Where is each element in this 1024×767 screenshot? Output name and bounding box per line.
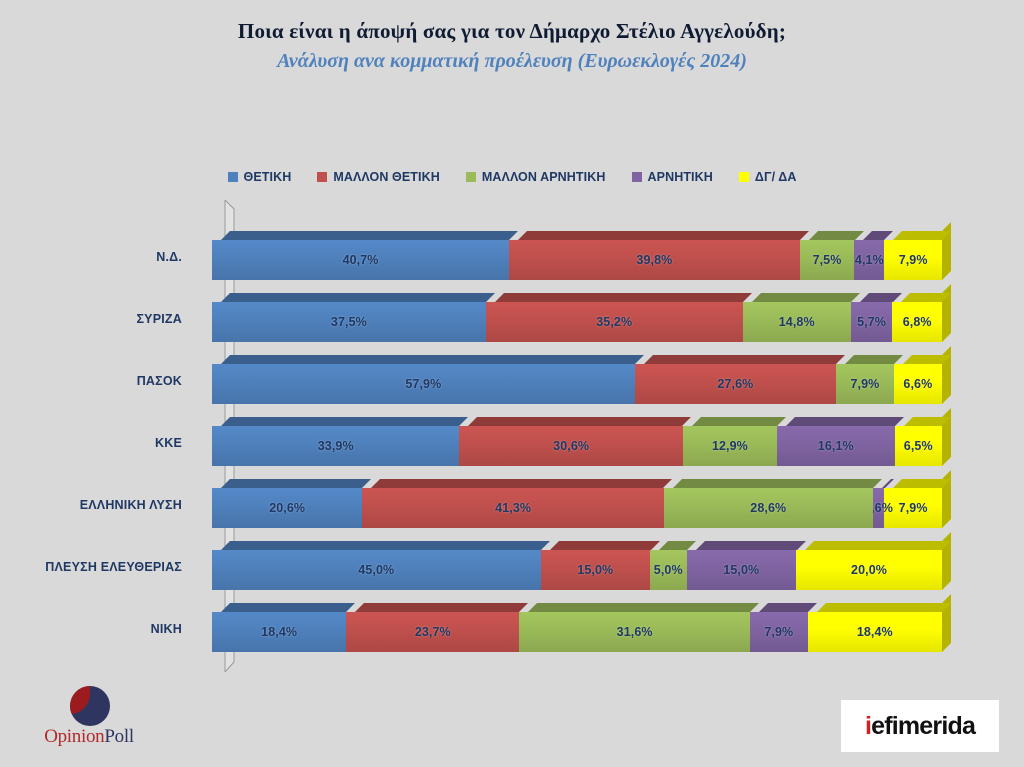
segment-top-face — [809, 231, 864, 240]
segment-value-label: 7,9% — [899, 253, 928, 267]
segment-value-label: 28,6% — [750, 501, 786, 515]
stacked-bar: 20,6%41,3%28,6%1,6%7,9% — [212, 488, 942, 528]
bar-segment[interactable]: 27,6% — [635, 364, 836, 404]
segment-top-face — [518, 231, 809, 240]
segment-value-label: 31,6% — [617, 625, 653, 639]
segment-top-face — [817, 603, 951, 612]
legend-label: ΑΡΝΗΤΙΚΗ — [648, 170, 713, 184]
bar-segment[interactable]: 28,6% — [664, 488, 873, 528]
segment-value-label: 15,0% — [723, 563, 759, 577]
segment-value-label: 23,7% — [415, 625, 451, 639]
segment-value-label: 40,7% — [343, 253, 379, 267]
bar-segment[interactable]: 15,0% — [687, 550, 797, 590]
iefimerida-rest: efimerida — [871, 712, 975, 740]
category-label: ΠΛΕΥΣΗ ΕΛΕΥΘΕΡΙΑΣ — [0, 560, 182, 574]
bar-segment[interactable]: 37,5% — [212, 302, 486, 342]
segment-value-label: 5,7% — [857, 315, 886, 329]
legend-swatch-icon — [466, 172, 476, 182]
segment-top-face — [893, 231, 951, 240]
category-label: Ν.Δ. — [0, 250, 182, 264]
bar-segment[interactable]: 7,9% — [750, 612, 808, 652]
legend-item[interactable]: ΜΑΛΛΟΝ ΘΕΤΙΚΗ — [317, 170, 440, 184]
bar-segment[interactable]: 57,9% — [212, 364, 635, 404]
segment-value-label: 6,5% — [904, 439, 933, 453]
segment-value-label: 6,8% — [903, 315, 932, 329]
bar-segment[interactable]: 20,0% — [796, 550, 942, 590]
legend-swatch-icon — [228, 172, 238, 182]
segment-value-label: 16,1% — [818, 439, 854, 453]
segment-top-face — [696, 541, 806, 550]
legend-label: ΘΕΤΙΚΗ — [244, 170, 292, 184]
segment-top-face — [221, 541, 550, 550]
category-label: ΠΑΣΟΚ — [0, 374, 182, 388]
segment-value-label: 18,4% — [857, 625, 893, 639]
segment-value-label: 30,6% — [553, 439, 589, 453]
bar-segment[interactable]: 15,0% — [541, 550, 651, 590]
segment-top-face — [692, 417, 786, 426]
segment-value-label: 18,4% — [261, 625, 297, 639]
segment-top-face — [863, 231, 893, 240]
stacked-bar: 45,0%15,0%5,0%15,0%20,0% — [212, 550, 942, 590]
bar-segment[interactable]: 41,3% — [362, 488, 663, 528]
segment-top-face — [805, 541, 951, 550]
opinionpoll-word-2: Poll — [104, 726, 133, 747]
segment-top-face — [550, 541, 660, 550]
segment-value-label: 37,5% — [331, 315, 367, 329]
chart-canvas: Ποια είναι η άποψή σας για τον Δήμαρχο Σ… — [0, 0, 1024, 767]
segment-top-face — [221, 417, 468, 426]
opinionpoll-mark-icon — [70, 686, 110, 726]
segment-top-face — [752, 293, 860, 302]
stacked-bar: 57,9%27,6%7,9%6,6% — [212, 364, 942, 404]
segment-top-face — [221, 603, 355, 612]
legend-item[interactable]: ΑΡΝΗΤΙΚΗ — [632, 170, 713, 184]
segment-top-face — [355, 603, 528, 612]
segment-top-face — [221, 479, 371, 488]
bar-segment[interactable]: 5,0% — [650, 550, 687, 590]
segment-top-face — [221, 355, 644, 364]
legend-item[interactable]: ΔΓ/ ΔΑ — [739, 170, 797, 184]
legend-swatch-icon — [739, 172, 749, 182]
bar-segment[interactable]: 6,6% — [894, 364, 942, 404]
bar-row: ΠΑΣΟΚ57,9%27,6%7,9%6,6% — [0, 350, 1024, 412]
page-subtitle: Ανάλυση ανα κομματική προέλευση (Ευρωεκλ… — [0, 48, 1024, 74]
bar-segment[interactable]: 45,0% — [212, 550, 541, 590]
legend-label: ΜΑΛΛΟΝ ΑΡΝΗΤΙΚΗ — [482, 170, 606, 184]
title-block: Ποια είναι η άποψή σας για τον Δήμαρχο Σ… — [0, 18, 1024, 74]
bar-segment[interactable]: 35,2% — [486, 302, 743, 342]
category-label: ΕΛΛΗΝΙΚΗ ΛΥΣΗ — [0, 498, 182, 512]
bar-segment[interactable]: 14,8% — [743, 302, 851, 342]
segment-value-label: 7,9% — [764, 625, 793, 639]
opinionpoll-wordmark: OpinionPoll — [24, 726, 154, 748]
segment-top-face — [221, 231, 518, 240]
stacked-bar: 18,4%23,7%31,6%7,9%18,4% — [212, 612, 942, 652]
stacked-bar: 40,7%39,8%7,5%4,1%7,9% — [212, 240, 942, 280]
opinionpoll-word-1: Opinion — [44, 726, 104, 747]
bar-segment[interactable]: 31,6% — [519, 612, 750, 652]
segment-value-label: 12,9% — [712, 439, 748, 453]
segment-top-face — [221, 293, 495, 302]
segment-value-label: 57,9% — [405, 377, 441, 391]
bar-segment[interactable]: 6,5% — [895, 426, 942, 466]
segment-value-label: 20,6% — [269, 501, 305, 515]
bar-segment[interactable]: 16,1% — [777, 426, 895, 466]
bar-segment[interactable]: 20,6% — [212, 488, 362, 528]
segment-top-face — [882, 479, 894, 488]
bar-row: ΝΙΚΗ18,4%23,7%31,6%7,9%18,4% — [0, 598, 1024, 660]
bar-row: ΣΥΡΙΖΑ37,5%35,2%14,8%5,7%6,8% — [0, 288, 1024, 350]
segment-top-face — [468, 417, 691, 426]
bar-rows: Ν.Δ.40,7%39,8%7,5%4,1%7,9%ΣΥΡΙΖΑ37,5%35,… — [0, 196, 1024, 676]
bar-row: ΕΛΛΗΝΙΚΗ ΛΥΣΗ20,6%41,3%28,6%1,6%7,9% — [0, 474, 1024, 536]
category-label: ΣΥΡΙΖΑ — [0, 312, 182, 326]
segment-value-label: 39,8% — [636, 253, 672, 267]
segment-value-label: 15,0% — [577, 563, 613, 577]
category-label: ΝΙΚΗ — [0, 622, 182, 636]
bar-segment[interactable]: 23,7% — [346, 612, 519, 652]
segment-value-label: 41,3% — [495, 501, 531, 515]
segment-value-label: 7,9% — [851, 377, 880, 391]
legend-item[interactable]: ΘΕΤΙΚΗ — [228, 170, 292, 184]
legend-swatch-icon — [632, 172, 642, 182]
opinionpoll-logo: OpinionPoll — [24, 686, 154, 758]
bar-segment[interactable]: 33,9% — [212, 426, 459, 466]
segment-value-label: 45,0% — [358, 563, 394, 577]
stacked-bar: 33,9%30,6%12,9%16,1%6,5% — [212, 426, 942, 466]
page-title: Ποια είναι η άποψή σας για τον Δήμαρχο Σ… — [0, 18, 1024, 44]
segment-top-face — [893, 479, 951, 488]
legend-swatch-icon — [317, 172, 327, 182]
bar-segment[interactable]: 30,6% — [459, 426, 682, 466]
bar-segment[interactable]: 1,6% — [873, 488, 885, 528]
segment-value-label: 5,0% — [654, 563, 683, 577]
iefimerida-wordmark: iefimerida — [865, 712, 975, 741]
legend-label: ΜΑΛΛΟΝ ΘΕΤΙΚΗ — [333, 170, 440, 184]
segment-top-face — [860, 293, 902, 302]
segment-value-label: 4,1% — [855, 253, 884, 267]
segment-top-face — [673, 479, 882, 488]
segment-top-face — [759, 603, 817, 612]
segment-top-face — [786, 417, 904, 426]
chart-legend: ΘΕΤΙΚΗΜΑΛΛΟΝ ΘΕΤΙΚΗΜΑΛΛΟΝ ΑΡΝΗΤΙΚΗΑΡΝΗΤΙ… — [0, 170, 1024, 184]
stacked-bar: 37,5%35,2%14,8%5,7%6,8% — [212, 302, 942, 342]
bar-segment[interactable]: 39,8% — [509, 240, 800, 280]
segment-value-label: 35,2% — [596, 315, 632, 329]
bar-row: Ν.Δ.40,7%39,8%7,5%4,1%7,9% — [0, 226, 1024, 288]
plot-area: Ν.Δ.40,7%39,8%7,5%4,1%7,9%ΣΥΡΙΖΑ37,5%35,… — [0, 196, 1024, 676]
segment-top-face — [644, 355, 845, 364]
bar-segment[interactable]: 7,9% — [884, 240, 942, 280]
segment-value-label: 7,5% — [813, 253, 842, 267]
segment-value-label: 33,9% — [318, 439, 354, 453]
bar-segment[interactable]: 40,7% — [212, 240, 509, 280]
bar-segment[interactable]: 7,9% — [836, 364, 894, 404]
bar-segment[interactable]: 6,8% — [892, 302, 942, 342]
category-label: ΚΚΕ — [0, 436, 182, 450]
bar-segment[interactable]: 4,1% — [854, 240, 884, 280]
segment-value-label: 20,0% — [851, 563, 887, 577]
legend-item[interactable]: ΜΑΛΛΟΝ ΑΡΝΗΤΙΚΗ — [466, 170, 606, 184]
segment-top-face — [845, 355, 903, 364]
segment-top-face — [371, 479, 672, 488]
segment-value-label: 27,6% — [717, 377, 753, 391]
bar-segment[interactable]: 12,9% — [683, 426, 777, 466]
bar-segment[interactable]: 18,4% — [212, 612, 346, 652]
iefimerida-logo: iefimerida — [841, 700, 999, 752]
legend-label: ΔΓ/ ΔΑ — [755, 170, 797, 184]
segment-top-face — [528, 603, 759, 612]
bar-segment[interactable]: 5,7% — [851, 302, 893, 342]
bar-segment[interactable]: 7,5% — [800, 240, 855, 280]
bar-segment[interactable]: 18,4% — [808, 612, 942, 652]
segment-value-label: 6,6% — [903, 377, 932, 391]
segment-top-face — [495, 293, 752, 302]
bar-row: ΠΛΕΥΣΗ ΕΛΕΥΘΕΡΙΑΣ45,0%15,0%5,0%15,0%20,0… — [0, 536, 1024, 598]
segment-value-label: 14,8% — [779, 315, 815, 329]
segment-top-face — [659, 541, 696, 550]
bar-row: ΚΚΕ33,9%30,6%12,9%16,1%6,5% — [0, 412, 1024, 474]
segment-value-label: 7,9% — [899, 501, 928, 515]
